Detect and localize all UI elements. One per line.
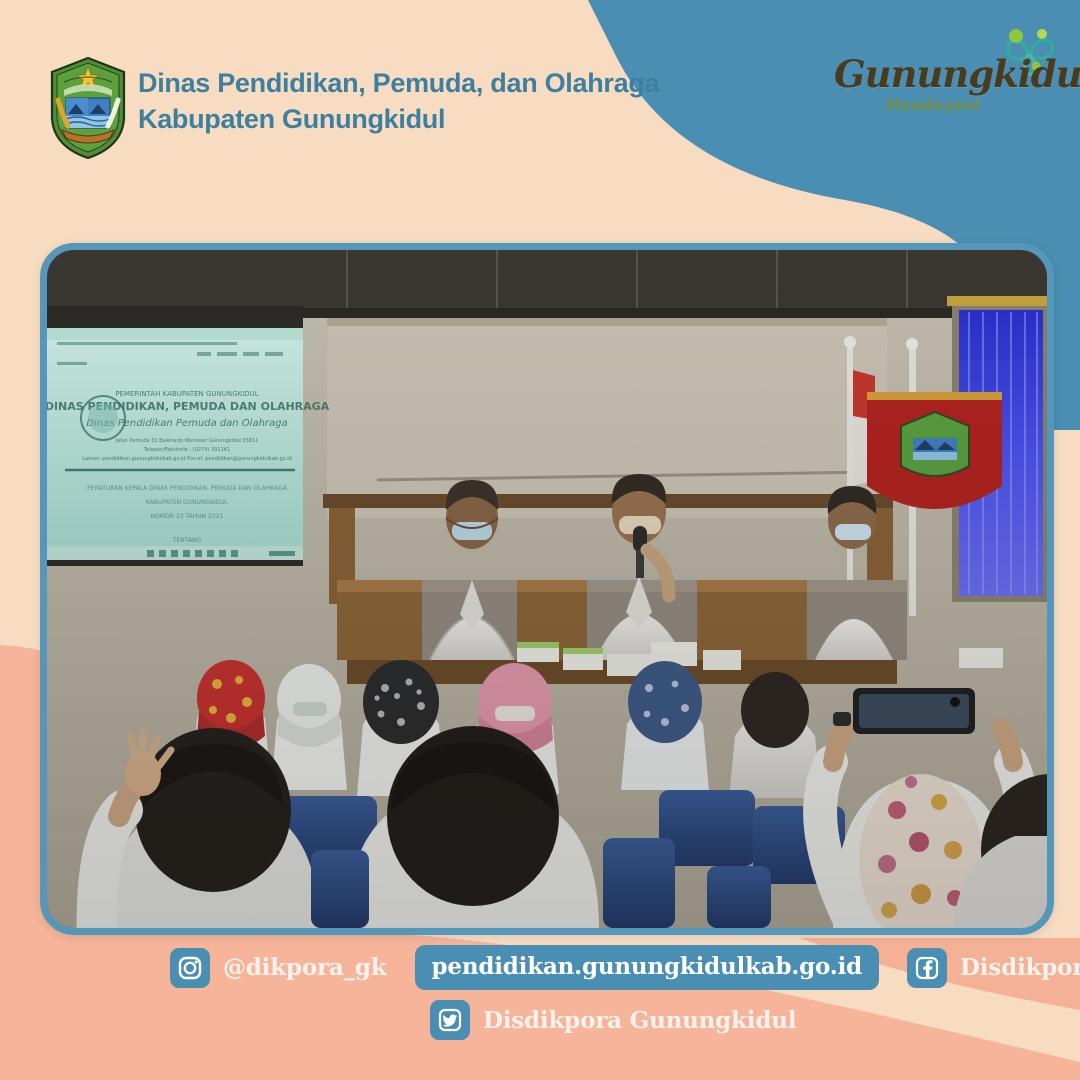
social-footer: @dikpora_gk pendidikan.gunungkidulkab.go… xyxy=(0,935,1080,1080)
poster-canvas: Dinas Pendidikan, Pemuda, dan Olahraga K… xyxy=(0,0,1080,1080)
poster-header: Dinas Pendidikan, Pemuda, dan Olahraga K… xyxy=(0,0,1080,200)
website-url-button[interactable]: pendidikan.gunungkidulkab.go.id xyxy=(415,945,880,990)
social-instagram[interactable]: @dikpora_gk xyxy=(170,948,387,988)
instagram-handle: @dikpora_gk xyxy=(223,954,387,981)
brand-tagline: Handayani xyxy=(886,96,981,114)
brand-wordmark: Gunungkidul xyxy=(834,52,1044,96)
twitter-icon[interactable] xyxy=(430,1000,470,1040)
social-twitter[interactable]: Disdikpora Gunungkidul xyxy=(430,1000,796,1040)
social-facebook[interactable]: Disdikpora Gunungkidul xyxy=(907,948,1080,988)
twitter-account-name: Disdikpora Gunungkidul xyxy=(483,1007,796,1034)
gunungkidul-brand-logo: Gunungkidul Handayani xyxy=(834,22,1064,126)
event-photo-card: PEMERINTAH KABUPATEN GUNUNGKIDUL DINAS P… xyxy=(40,243,1054,935)
page-title: Dinas Pendidikan, Pemuda, dan Olahraga K… xyxy=(138,66,659,137)
facebook-icon[interactable] xyxy=(907,948,947,988)
facebook-page-name: Disdikpora Gunungkidul xyxy=(960,954,1080,981)
gunungkidul-coat-of-arms-icon xyxy=(44,56,132,160)
instagram-icon[interactable] xyxy=(170,948,210,988)
meeting-room-photograph: PEMERINTAH KABUPATEN GUNUNGKIDUL DINAS P… xyxy=(47,250,1047,928)
